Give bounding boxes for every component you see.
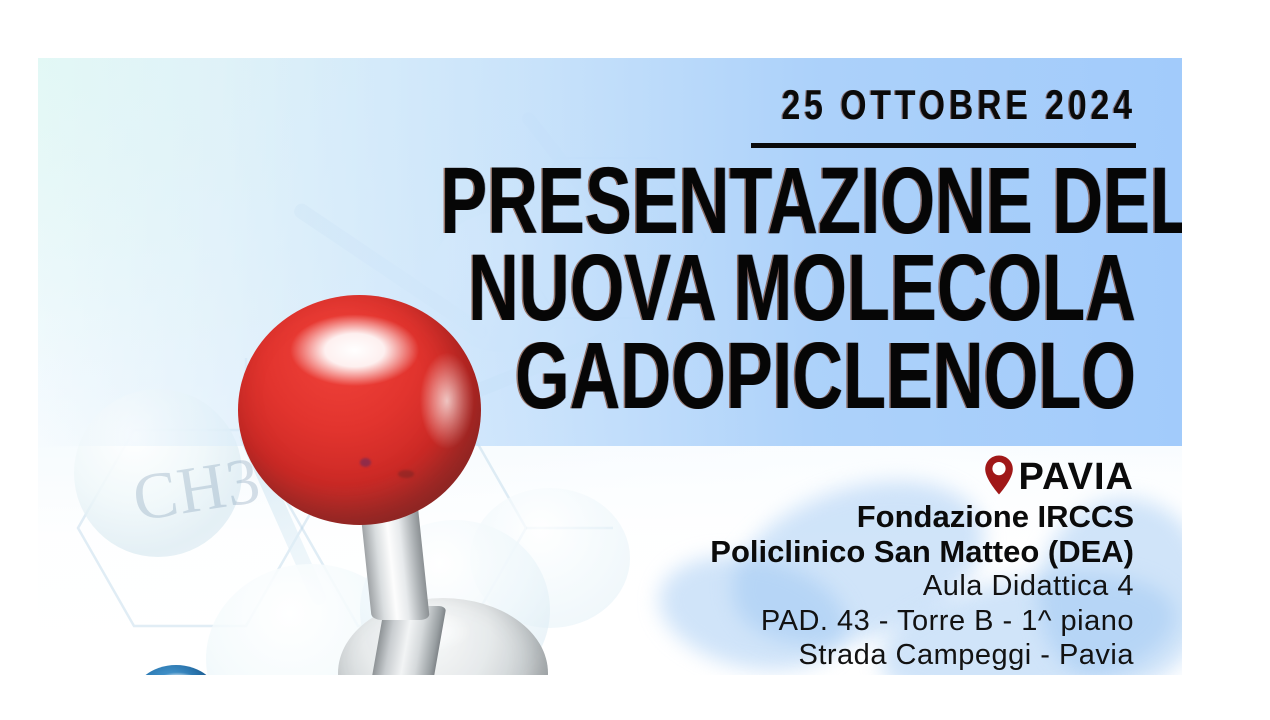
map-pin-icon (983, 454, 1015, 496)
venue-room: Aula Didattica 4 (414, 569, 1134, 603)
venue-institution-line-1: Fondazione IRCCS (414, 500, 1134, 535)
event-title-line-2: NUOVA MOLECOLA (440, 245, 1136, 332)
event-title-line-1: PRESENTAZIONE DELLA (440, 158, 1136, 245)
event-title: PRESENTAZIONE DELLA NUOVA MOLECOLA GADOP… (196, 158, 1136, 420)
poster-text-layer: 25 OTTOBRE 2024 PRESENTAZIONE DELLA NUOV… (38, 58, 1182, 675)
venue-institution-line-2: Policlinico San Matteo (DEA) (414, 535, 1134, 570)
venue-city-row: PAVIA (414, 456, 1134, 498)
event-title-line-3: GADOPICLENOLO (440, 333, 1136, 420)
venue-street: Strada Campeggi - Pavia (414, 638, 1134, 672)
venue-block: PAVIA Fondazione IRCCS Policlinico San M… (414, 456, 1134, 672)
event-date: 25 OTTOBRE 2024 (782, 84, 1136, 126)
venue-city: PAVIA (1019, 458, 1135, 496)
poster-slide: CH3 25 OTTOBRE 2024 PRESENTAZIONE DELLA … (0, 0, 1270, 720)
poster-canvas: CH3 25 OTTOBRE 2024 PRESENTAZIONE DELLA … (38, 58, 1182, 675)
venue-location-detail: PAD. 43 - Torre B - 1^ piano (414, 604, 1134, 638)
